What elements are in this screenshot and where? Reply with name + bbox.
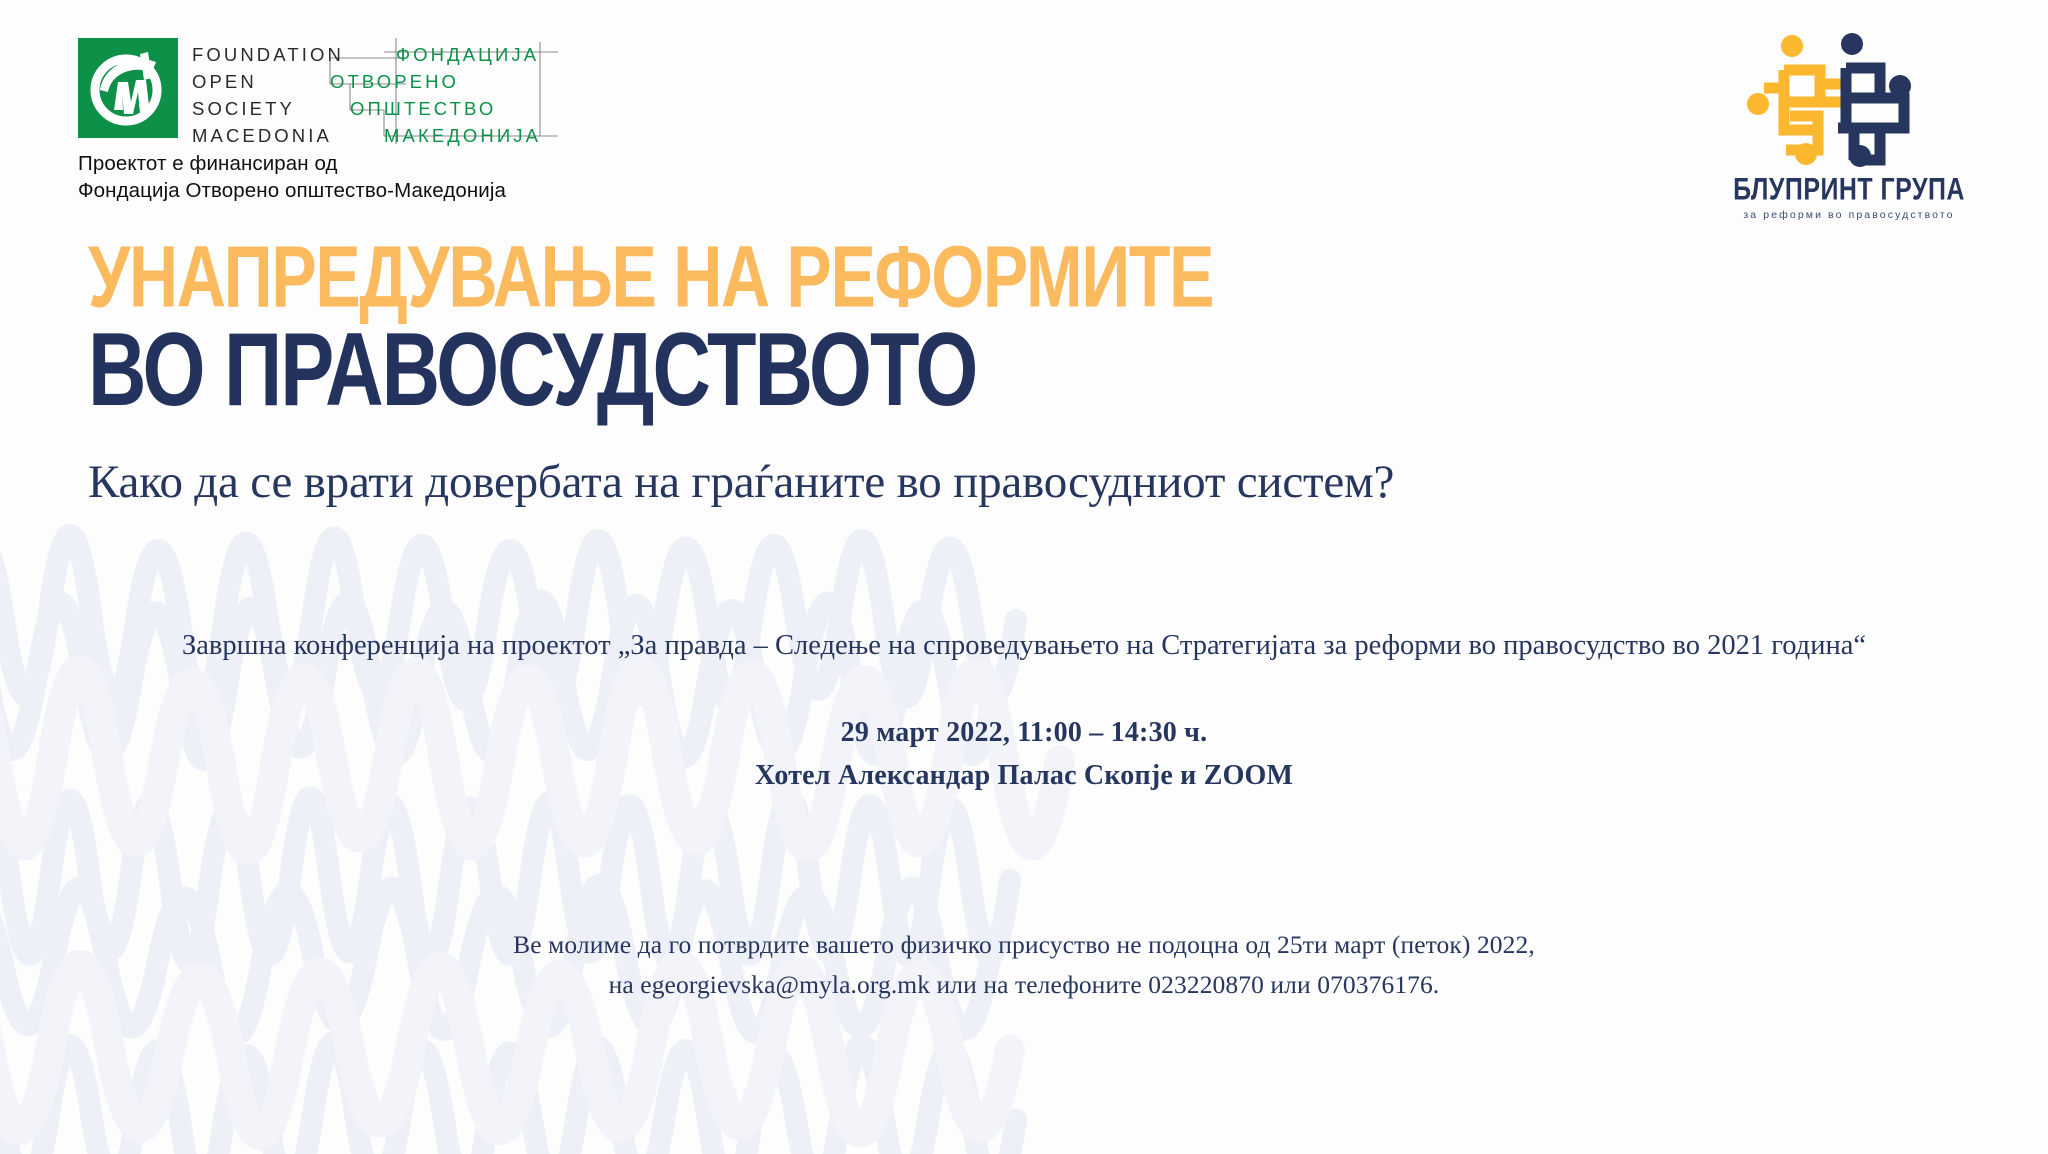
poster-header: FOUNDATION OPEN SOCIETY MACEDONIA ФОНДАЦ…: [0, 0, 2048, 230]
rsvp-block: Ве молиме да го потврдите вашето физичко…: [0, 925, 2048, 1006]
subtitle: Како да се врати довербата на граѓаните …: [88, 455, 1988, 509]
osm-wordmark: FOUNDATION OPEN SOCIETY MACEDONIA ФОНДАЦ…: [188, 36, 588, 146]
osm-funding-credit: Проектот е финансиран од Фондација Отвор…: [78, 150, 506, 204]
event-details: 29 март 2022, 11:00 – 14:30 ч. Хотел Але…: [0, 712, 2048, 797]
svg-text:МАКЕДОНИЈА: МАКЕДОНИЈА: [384, 125, 541, 146]
title-line-secondary: ВО ПРАВОСУДСТВОТО: [0, 322, 2048, 422]
svg-text:ОТВОРЕНО: ОТВОРЕНО: [330, 71, 459, 92]
svg-text:ФОНДАЦИЈА: ФОНДАЦИЈА: [396, 44, 539, 65]
osm-logo-mark: [78, 38, 178, 138]
blueprint-logo-mark: [1724, 24, 1974, 169]
svg-text:FOUNDATION: FOUNDATION: [192, 44, 344, 65]
title-line-primary: УНАПРЕДУВАЊЕ НА РЕФОРМИТЕ: [0, 236, 2048, 320]
svg-text:SOCIETY: SOCIETY: [192, 98, 295, 119]
event-description: Завршна конференција на проектот „За пра…: [0, 626, 2048, 666]
blueprint-logo-name: БЛУПРИНТ ГРУПА: [1729, 170, 1969, 208]
event-datetime: 29 март 2022, 11:00 – 14:30 ч.: [0, 712, 2048, 755]
svg-text:MACEDONIA: MACEDONIA: [192, 125, 332, 146]
svg-text:ОПШТЕСТВО: ОПШТЕСТВО: [350, 98, 496, 119]
poster-canvas: FOUNDATION OPEN SOCIETY MACEDONIA ФОНДАЦ…: [0, 0, 2048, 1154]
title-group: УНАПРЕДУВАЊЕ НА РЕФОРМИТЕ ВО ПРАВОСУДСТВ…: [0, 236, 2048, 400]
event-venue: Хотел Александар Палас Скопје и ZOOM: [0, 755, 2048, 798]
rsvp-line-2: на egeorgievska@myla.org.mk или на телеф…: [0, 965, 2048, 1005]
svg-text:OPEN: OPEN: [192, 71, 257, 92]
osm-logo: FOUNDATION OPEN SOCIETY MACEDONIA ФОНДАЦ…: [78, 38, 698, 228]
blueprint-group-logo: БЛУПРИНТ ГРУПА за реформи во правосудств…: [1724, 24, 1974, 204]
blueprint-logo-tagline: за реформи во правосудството: [1724, 209, 1974, 220]
rsvp-line-1: Ве молиме да го потврдите вашето физичко…: [0, 925, 2048, 965]
